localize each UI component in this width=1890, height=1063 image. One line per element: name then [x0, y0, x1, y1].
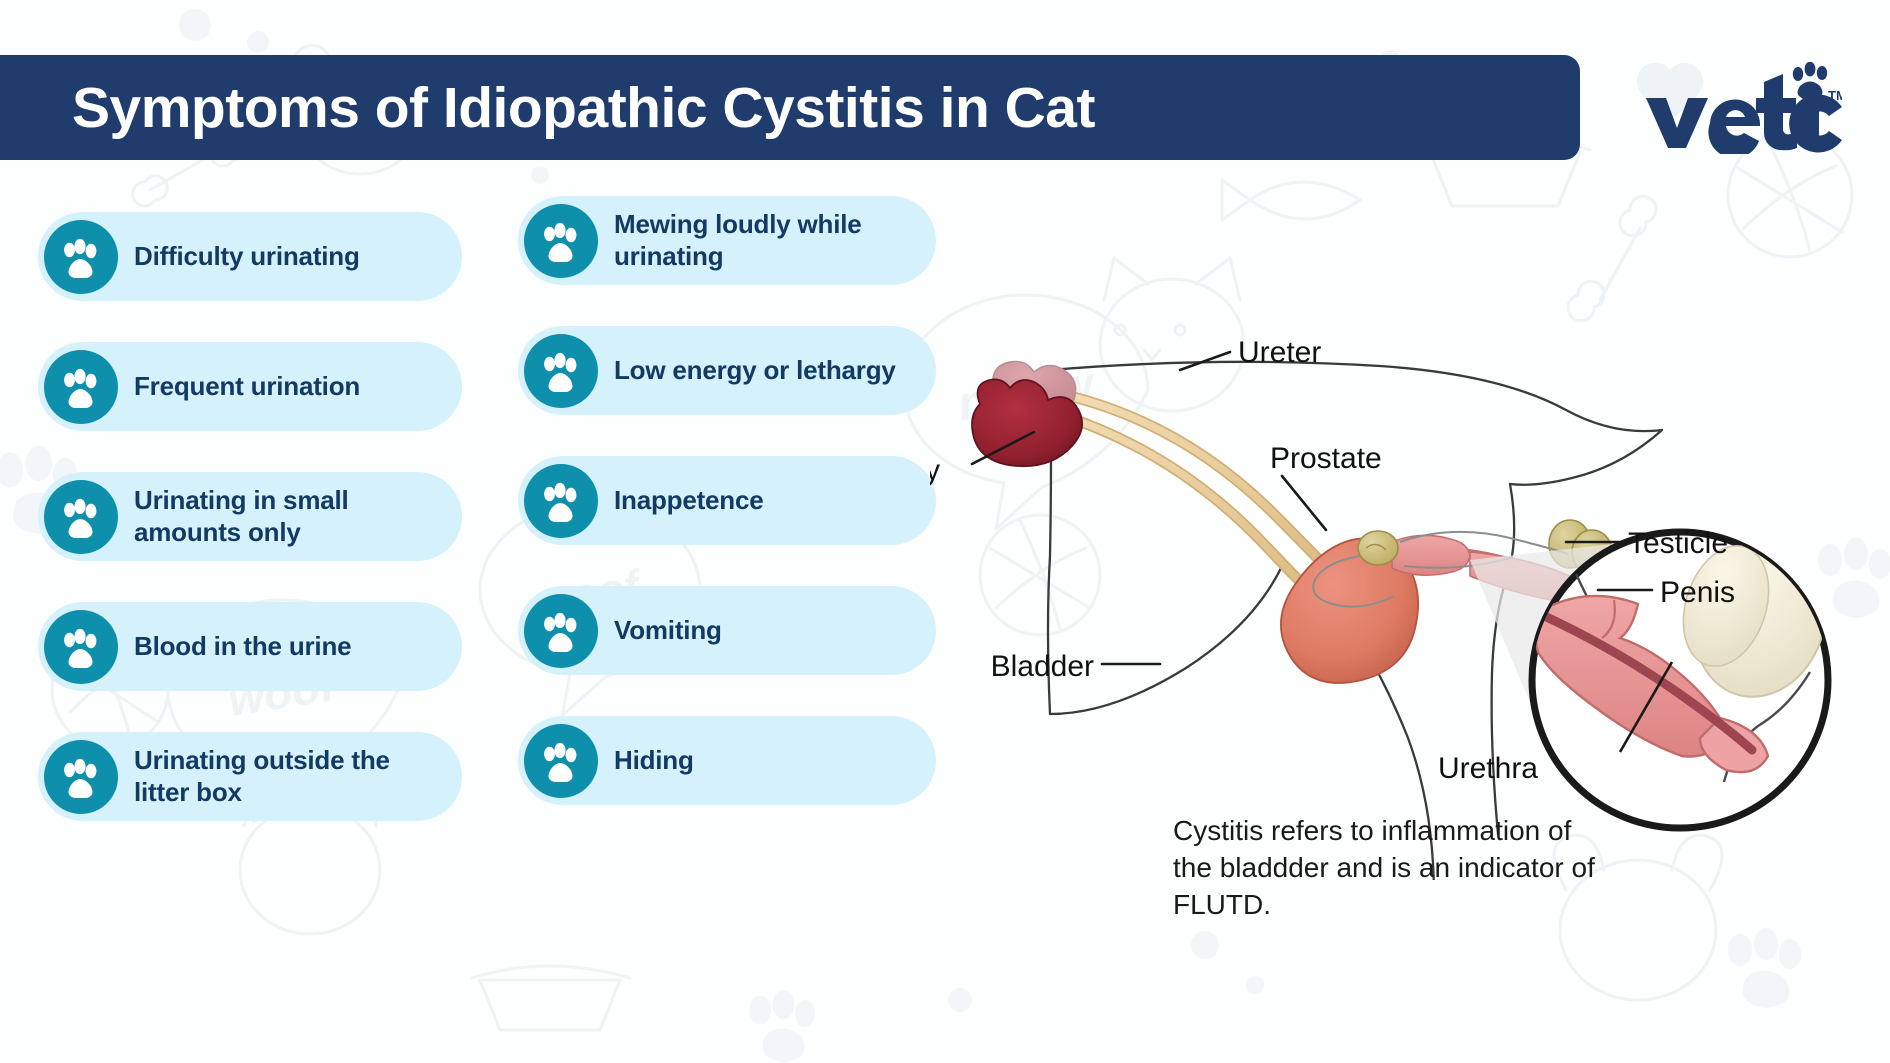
symptom-pill[interactable]: Blood in the urine — [38, 602, 462, 691]
label-penis: Penis — [1660, 576, 1735, 609]
label-kidney: Kidney — [930, 454, 940, 487]
prostate-organ — [1358, 531, 1398, 565]
paw-icon — [524, 334, 598, 408]
symptom-pill[interactable]: Inappetence — [518, 456, 936, 545]
symptom-label: Vomiting — [614, 615, 722, 647]
kidney-organ — [972, 361, 1082, 466]
food-bowl-icon — [472, 966, 630, 1030]
symptom-label: Difficulty urinating — [134, 241, 360, 273]
paw-icon — [44, 610, 118, 684]
paw-icon — [524, 724, 598, 798]
symptom-column-right: Mewing loudly while urinating Low energy… — [518, 196, 936, 805]
label-ureter: Ureter — [1238, 336, 1321, 369]
symptom-pill[interactable]: Difficulty urinating — [38, 212, 462, 301]
paw-icon — [44, 350, 118, 424]
symptom-label: Urinating outside the litter box — [134, 745, 444, 808]
symptom-pill[interactable]: Mewing loudly while urinating — [518, 196, 936, 285]
symptom-pill[interactable]: Hiding — [518, 716, 936, 805]
paw-icon — [44, 740, 118, 814]
symptom-label: Blood in the urine — [134, 631, 351, 663]
symptom-column-left: Difficulty urinating Frequent urination — [38, 212, 462, 821]
symptom-label: Frequent urination — [134, 371, 360, 403]
symptom-pill[interactable]: Low energy or lethargy — [518, 326, 936, 415]
trademark-mark: TM — [1828, 88, 1842, 103]
label-prostate: Prostate — [1270, 442, 1382, 475]
paw-icon — [524, 464, 598, 538]
symptom-pill[interactable]: Urinating in small amounts only — [38, 472, 462, 561]
paw-print-icon — [1793, 62, 1827, 100]
label-urethra: Urethra — [1438, 752, 1538, 785]
diagram-caption: Cystitis refers to inflammation of the b… — [1173, 812, 1603, 924]
symptom-label: Inappetence — [614, 485, 764, 517]
paw-icon — [44, 480, 118, 554]
header-bar: Symptoms of Idiopathic Cystitis in Cat — [0, 55, 1580, 160]
symptom-label: Urinating in small amounts only — [134, 485, 444, 548]
magnified-urethra-view — [1532, 526, 1845, 828]
infographic-root: meow woof woof — [0, 0, 1890, 1063]
symptom-pill[interactable]: Vomiting — [518, 586, 936, 675]
paw-icon — [44, 220, 118, 294]
symptom-pill[interactable]: Urinating outside the litter box — [38, 732, 462, 821]
symptom-label: Mewing loudly while urinating — [614, 209, 918, 272]
paw-icon — [524, 204, 598, 278]
cat-urinary-anatomy-diagram: Kidney Ureter Prostate Testicle Penis Bl… — [930, 280, 1890, 880]
label-bladder: Bladder — [991, 650, 1094, 683]
symptom-label: Hiding — [614, 745, 694, 777]
fish-icon — [1222, 180, 1360, 220]
label-testicle: Testicle — [1628, 527, 1728, 560]
paw-icon — [524, 594, 598, 668]
vetic-logo[interactable]: TM — [1642, 62, 1842, 154]
page-title: Symptoms of Idiopathic Cystitis in Cat — [0, 75, 1095, 141]
symptom-pill[interactable]: Frequent urination — [38, 342, 462, 431]
symptom-label: Low energy or lethargy — [614, 355, 896, 387]
